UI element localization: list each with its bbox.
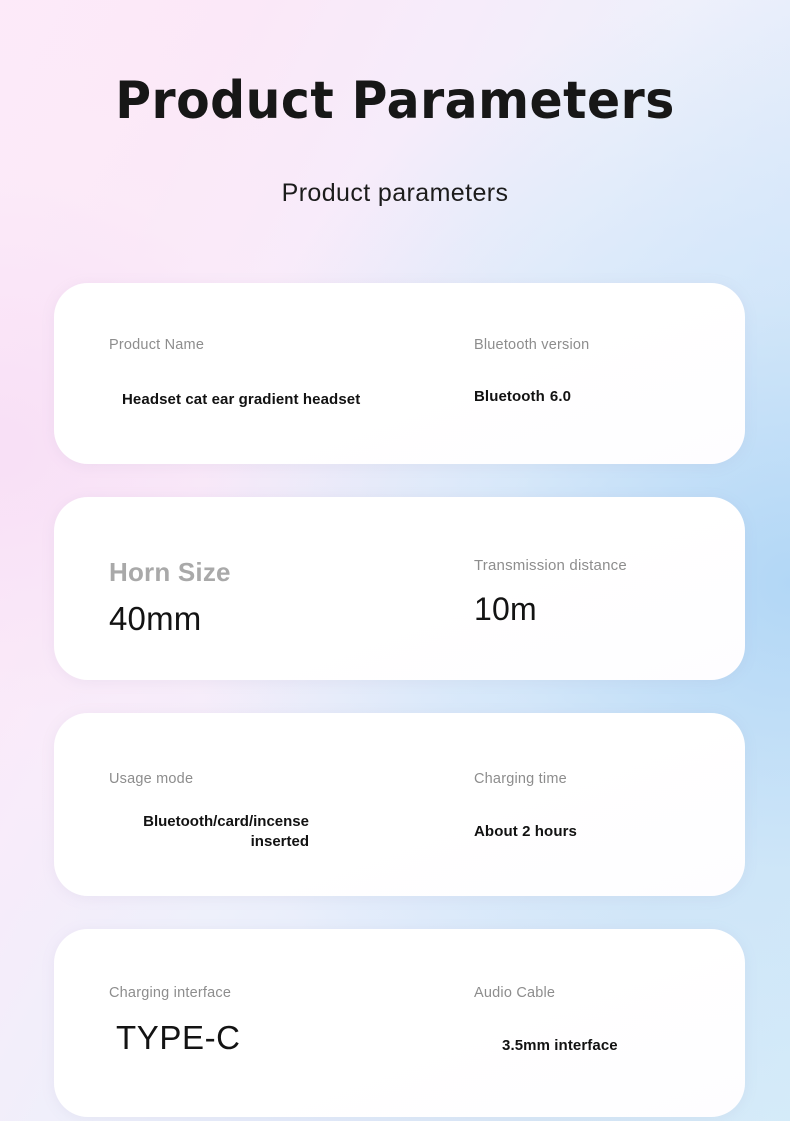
parameter-card: Charging interface TYPE-C Audio Cable 3.… bbox=[54, 929, 745, 1117]
parameter-value: Bluetooth/card/incense inserted bbox=[109, 812, 309, 852]
parameter-value-text: Bluetooth bbox=[474, 388, 545, 405]
parameter-value: TYPE-C bbox=[116, 1019, 241, 1057]
parameter-value: 3.5mm interface bbox=[502, 1037, 618, 1054]
parameter-card-list: Product Name Headset cat ear gradient he… bbox=[54, 283, 745, 1117]
parameter-value: About 2 hours bbox=[474, 823, 577, 840]
parameter-cell-transmission-distance: Transmission distance 10m bbox=[474, 557, 627, 628]
parameter-label: Charging interface bbox=[109, 985, 241, 1001]
parameter-label: Product Name bbox=[109, 337, 360, 353]
parameter-label: Transmission distance bbox=[474, 557, 627, 574]
parameter-label: Audio Cable bbox=[474, 985, 618, 1001]
parameter-cell-audio-cable: Audio Cable 3.5mm interface bbox=[474, 985, 618, 1054]
parameter-label: Usage mode bbox=[109, 771, 309, 787]
parameter-label: Charging time bbox=[474, 771, 577, 787]
parameter-card: Product Name Headset cat ear gradient he… bbox=[54, 283, 745, 464]
parameter-value: 40mm bbox=[109, 600, 231, 638]
parameter-cell-bluetooth-version: Bluetooth version Bluetooth6.0 bbox=[474, 337, 589, 405]
page-header: Product Parameters Product parameters bbox=[0, 0, 790, 208]
parameter-cell-usage-mode: Usage mode Bluetooth/card/incense insert… bbox=[109, 771, 309, 852]
parameter-label: Horn Size bbox=[109, 557, 231, 588]
page-subtitle: Product parameters bbox=[0, 129, 790, 208]
parameter-value-number: 6.0 bbox=[550, 388, 571, 405]
parameter-cell-horn-size: Horn Size 40mm bbox=[109, 557, 231, 638]
parameter-card: Horn Size 40mm Transmission distance 10m bbox=[54, 497, 745, 680]
parameter-card: Usage mode Bluetooth/card/incense insert… bbox=[54, 713, 745, 896]
parameter-value: Bluetooth6.0 bbox=[474, 388, 589, 405]
parameter-cell-product-name: Product Name Headset cat ear gradient he… bbox=[109, 337, 360, 408]
product-parameters-page: Product Parameters Product parameters Pr… bbox=[0, 0, 790, 1121]
parameter-label: Bluetooth version bbox=[474, 337, 589, 353]
parameter-value: Headset cat ear gradient headset bbox=[122, 391, 360, 408]
parameter-cell-charging-interface: Charging interface TYPE-C bbox=[109, 985, 241, 1057]
parameter-cell-charging-time: Charging time About 2 hours bbox=[474, 771, 577, 840]
page-title: Product Parameters bbox=[24, 74, 767, 129]
parameter-value: 10m bbox=[474, 591, 627, 628]
